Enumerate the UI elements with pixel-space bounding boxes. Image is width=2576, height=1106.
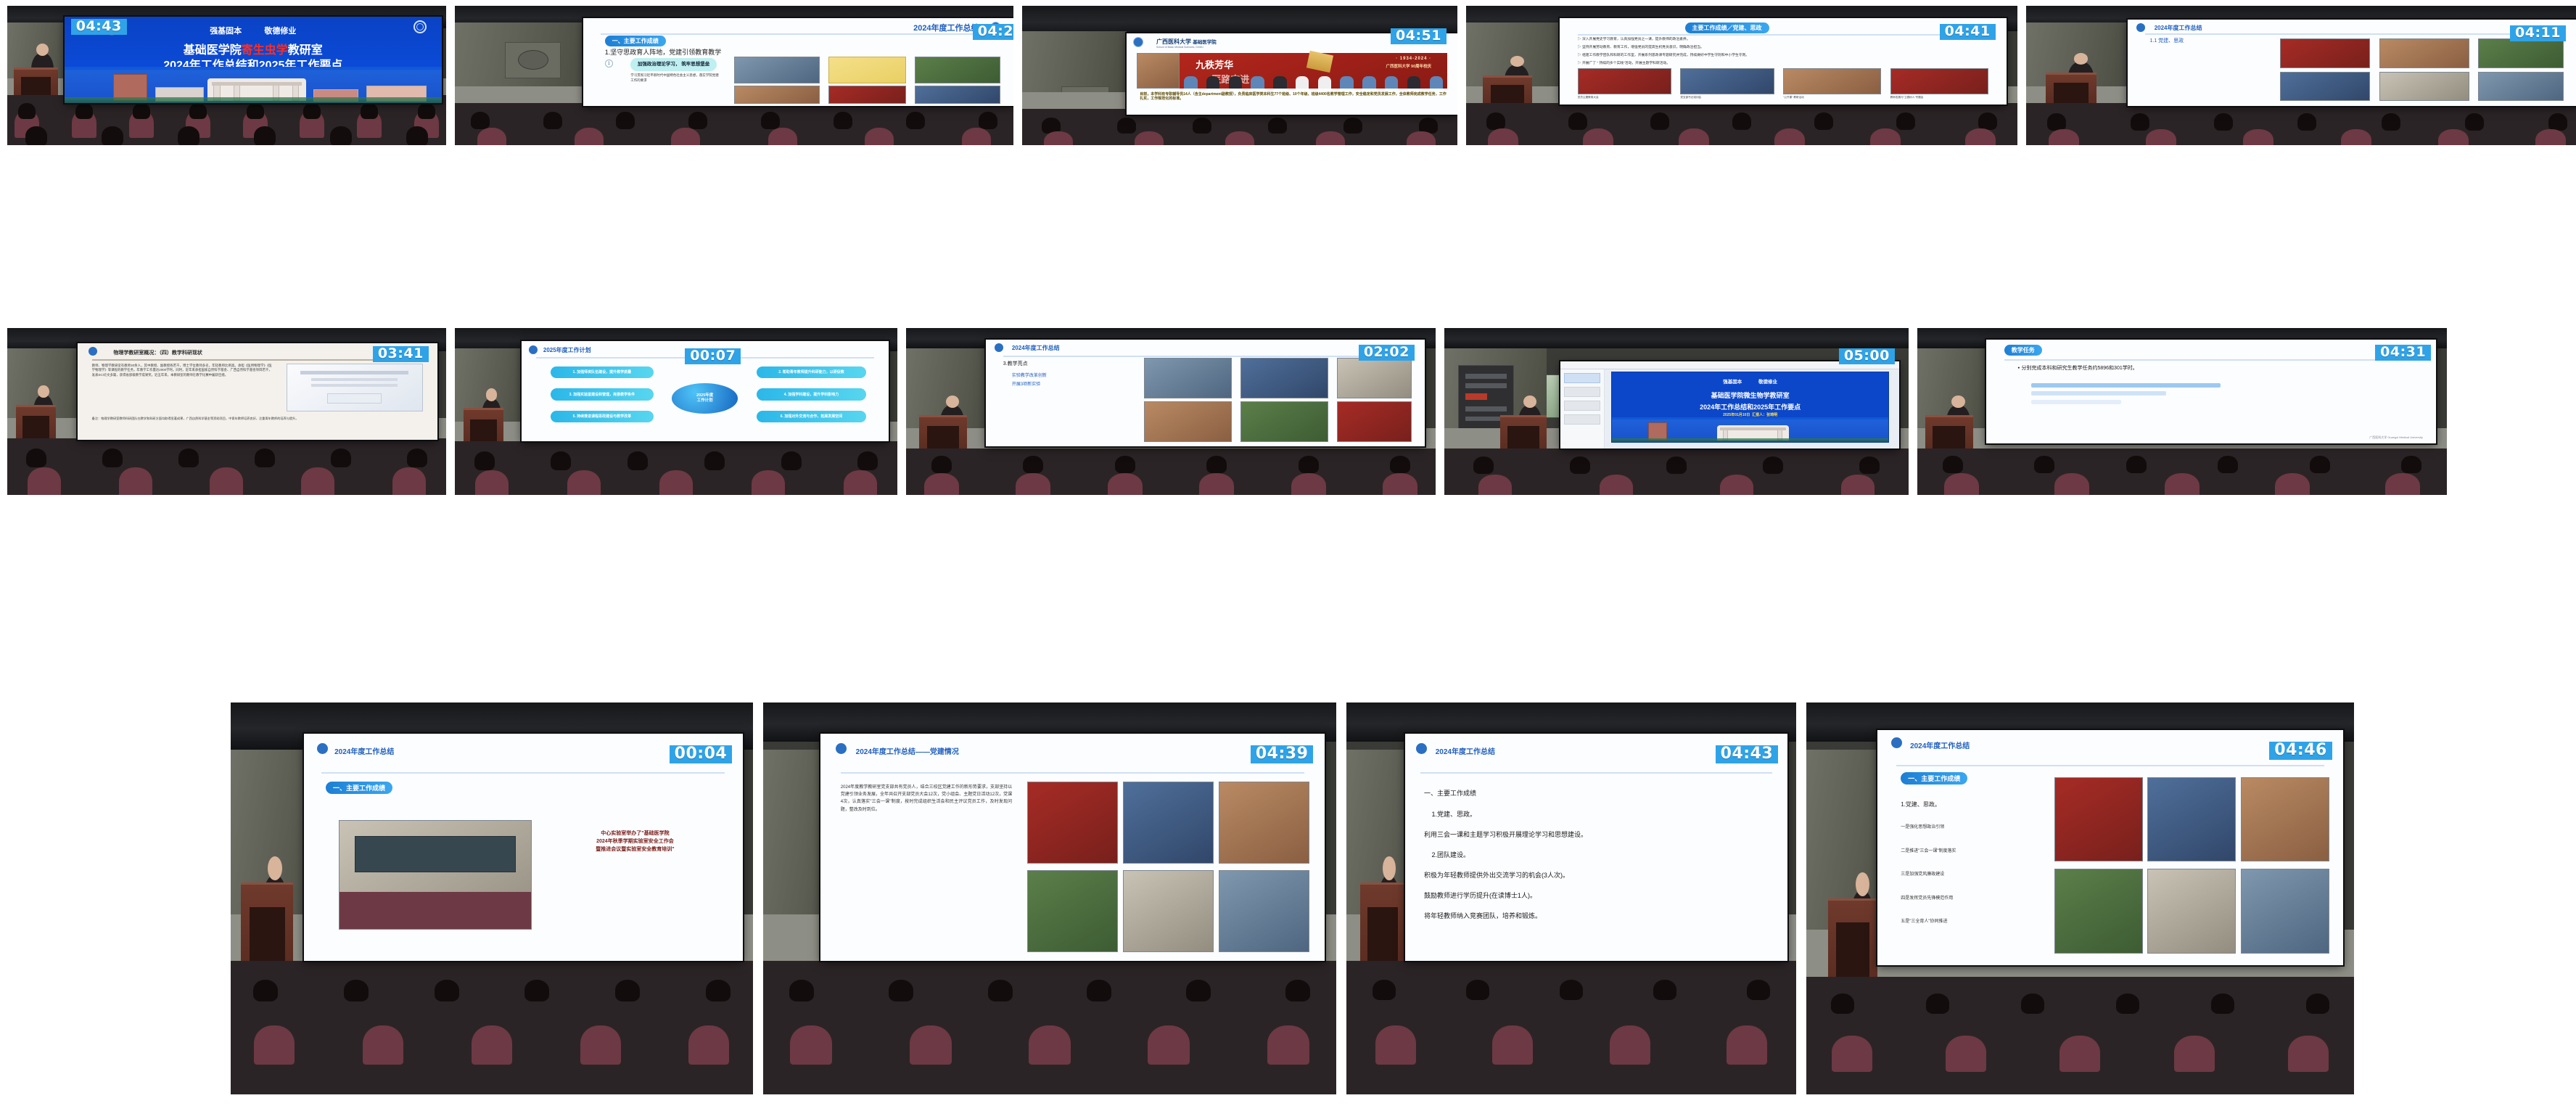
- slide-preview: 强基固本 敬德修业 基础医学院微生物学教研室 2024年工作总结和2025年工作…: [1611, 372, 1889, 443]
- countdown-timer: 00:04: [670, 745, 733, 763]
- slide-header: 物理学教研室概况：（四）教学科研现状: [113, 349, 202, 356]
- countdown-timer: 04:43: [1716, 745, 1779, 763]
- slide-thumbnail: [1578, 68, 1671, 94]
- sub-line-2: 二是推进"三会一课"制度落实: [1901, 848, 2041, 856]
- countdown-timer: 04:39: [1251, 745, 1314, 763]
- certificate-thumbnail: [287, 364, 424, 412]
- progress-bar: [2031, 391, 2166, 396]
- slide-thumbnail: [2241, 869, 2329, 954]
- countdown-timer: 04:43: [71, 19, 127, 35]
- photo-row-1: 强基固本 敬德修业 基础医学院寄生虫学教研室 2024年工作总结和2025年工作…: [0, 6, 2576, 318]
- sub-line-1: 实验教学改革创新: [1012, 372, 1047, 378]
- bullet-3: ▷ 开展广了 " 持续的多个实践"活动，开展主题学科研活动。: [1578, 61, 1988, 66]
- slide-thumbnail: [734, 57, 820, 83]
- slide-footer: 广西医科大学 Guangxi Medical University: [2369, 435, 2423, 440]
- photo-tile-6[interactable]: 物理学教研室概况：（四）教学科研现状 教师、物理学教研室有教师30余人，其中教授…: [7, 328, 446, 495]
- slide-thumbnail: [1144, 358, 1232, 398]
- slide-header: 2024年度工作总结: [1012, 344, 1060, 352]
- slide-thumbnail: [2054, 777, 2143, 862]
- photo-tile-12[interactable]: 2024年度工作总结——党建情况 2024年度教学教研室党支部共有党员人，结合三…: [763, 702, 1336, 1094]
- sub-line-5: 五是"三全育人"协同推进: [1901, 918, 2041, 926]
- report-slide: 2024年度工作总结 一、主要工作成绩 1.坚守思政育人阵地，党建引领教育教学 …: [583, 18, 1013, 106]
- section-line: 1.党建、思政。: [1901, 800, 1941, 808]
- slide-thumbnail: [2379, 38, 2469, 67]
- photo-tile-3[interactable]: 广西医科大学 基础医学院 School of Basic Medical Sci…: [1022, 6, 1457, 145]
- sub-line-1: 一是强化思想政治引领: [1901, 824, 2041, 832]
- photo-tile-4[interactable]: 主要工作成绩／党建、思政 ▷ 深入开展党史学习教育，认真加强党员之一课，提升教师…: [1466, 6, 2017, 145]
- sub-line-4: 四是发挥党员先锋模范作用: [1901, 895, 2041, 903]
- slide-thumbnail: [1027, 782, 1118, 864]
- projection-screen: 2024年度工作总结 一、主要工作成绩 1.党建、思政。 一是强化思想政治引领 …: [1877, 730, 2343, 965]
- slide-thumbnail: [915, 57, 1001, 83]
- slide-thumbnail: [1123, 782, 1214, 864]
- countdown-timer: 04:46: [2269, 742, 2332, 760]
- bullet-0: ▷ 深入开展党史学习教育，认真加强党员之一课，提升教师的政治素养。: [1578, 37, 1988, 42]
- projection-screen: 2024年度工作总结——党建情况 2024年度教学教研室党支部共有党员人，结合三…: [820, 734, 1325, 961]
- thumbnail-caption: "公开课" 教研活动: [1783, 96, 1804, 99]
- slide-thumbnail: [2478, 38, 2564, 67]
- mindmap-node-6: 6. 加强对外交流与合作，拓展发展空间: [757, 411, 867, 423]
- slide-thumbnail: [2147, 869, 2236, 954]
- school-logo-icon: [1416, 743, 1427, 754]
- slide-photo: [339, 820, 532, 929]
- text-line-2: 1.党建、思政。: [1431, 809, 1476, 819]
- bullet-1: ▷ 坚持开展劳动教育、教育工作，增强党员的提高生机党员意识，明确政治担当。: [1578, 45, 1988, 50]
- slide-thumbnail: [915, 86, 1001, 103]
- projection-screen: 2024年度工作总结 一、主要工作成绩 1.坚守思政育人阵地，党建引领教育教学 …: [583, 18, 1013, 106]
- slide-caption: 目前，本学科有专职辅导员14人（含主department副教授），负责临床医学类…: [1140, 92, 1447, 102]
- text-line-3: 利用三会一课和主题学习积极开展理论学习和思想建设。: [1424, 829, 1587, 839]
- text-line-6: 鼓励教师进行学历提升(在读博士1人)。: [1424, 890, 1536, 900]
- school-logo-icon: [995, 343, 1003, 352]
- section-chip: 主要工作成绩／党建、思政: [1685, 22, 1769, 33]
- photo-tile-9[interactable]: 强基固本 敬德修业 基础医学院微生物学教研室 2024年工作总结和2025年工作…: [1444, 328, 1909, 495]
- slide-body: 2024年度教学教研室党支部共有党员人，结合三校区党建工作的新形势要求，支部坚持…: [841, 784, 1012, 814]
- slide-thumbnail: [1027, 870, 1118, 952]
- school-logo-icon: [1133, 37, 1143, 47]
- mindmap-node-1: 1. 加强师资队伍建设，提升教学质量: [551, 366, 654, 379]
- slide-thumbnail: [1337, 401, 1412, 442]
- slide-thumbnail: [1219, 782, 1309, 864]
- slide-thumbnail: [2147, 777, 2236, 862]
- slide-thumbnail: [2379, 72, 2469, 101]
- school-logo-icon: [529, 345, 538, 354]
- ribbon-decor: [1306, 51, 1333, 73]
- motto-left: 强基固本: [210, 25, 242, 36]
- slide-thumbnail: [2054, 869, 2143, 954]
- text-line-1: 一、主要工作成绩: [1424, 788, 1476, 798]
- mindmap-center: 2025年度 工作计划: [672, 383, 738, 413]
- section-line: 1.坚守思政育人阵地，党建引领教育教学: [605, 47, 722, 57]
- task-bullet: 分别完成本科和研究生教学任务约5896和301学时。: [2017, 364, 2137, 372]
- slide-footer-note: 备注：物理学教研室教师科研团队在教学和科研方面均取得显著成果，广西自然科学基金等…: [92, 417, 423, 421]
- countdown-timer: 04:11: [2510, 25, 2566, 41]
- slide-thumbnail: [1890, 68, 1988, 94]
- countdown-timer: 04:51: [1391, 28, 1447, 44]
- motto-right: 敬德修业: [1758, 377, 1777, 385]
- school-logo-icon: [1891, 737, 1902, 748]
- banner-line1: 九秩芳华: [1196, 57, 1233, 71]
- section-chip: 一、主要工作成绩: [1901, 772, 1967, 785]
- countdown-timer: 04:41: [1940, 24, 1996, 40]
- countdown-timer: 02:02: [1359, 345, 1415, 361]
- photo-tile-7[interactable]: 2025年度工作计划 2025年度 工作计划 1. 加强师资队伍建设，提升教学质…: [455, 328, 897, 495]
- thumbnail-caption: 党支部书记培训会: [1680, 96, 1701, 99]
- countdown-timer: 03:41: [373, 346, 429, 362]
- slide-thumbnail: [2280, 38, 2370, 67]
- slide-thumbnail: [1783, 68, 1881, 94]
- slide-thumbnail: [2280, 72, 2370, 101]
- section-chip: 教学任务: [2004, 345, 2042, 356]
- mindmap-node-2: 2. 帮助青年教师提升科研能力，以研促教: [757, 366, 867, 379]
- projection-screen: 2024年度工作总结 一、主要工作成绩 1.党建、思政。 利用三会一课和主题学习…: [1405, 734, 1787, 961]
- photo-row-3: 2024年度工作总结 一、主要工作成绩 中心实验室举办了"基础医学院 2024年…: [0, 702, 2576, 1098]
- slide-caption: 中心实验室举办了"基础医学院 2024年秋季学期实验室安全工作会 暨推进会议暨实…: [545, 829, 725, 854]
- mindmap-node-3: 3. 加强实验室建设和管理，完善教学条件: [551, 388, 654, 401]
- projection-screen: 强基固本 敬德修业 基础医学院微生物学教研室 2024年工作总结和2025年工作…: [1560, 361, 1899, 448]
- mindmap-node-5: 5. 持续推进课程思政建设与教学改革: [551, 411, 654, 423]
- photo-tile-8[interactable]: 2024年度工作总结 3.教学亮点 实验教学改革创新 开展3项新实验 02:02: [906, 328, 1436, 495]
- slide-thumbnail: [1240, 401, 1328, 442]
- campus-illustration: [65, 67, 442, 103]
- contact-sheet: 强基固本 敬德修业 基础医学院寄生虫学教研室 2024年工作总结和2025年工作…: [0, 0, 2576, 1106]
- sub-line-3: 三是加强党风廉政建设: [1901, 871, 2041, 879]
- projection-screen: 教学任务 分别完成本科和研究生教学任务约5896和301学时。 广西医科大学 G…: [1986, 340, 2437, 443]
- text-line-4: 2.团队建设。: [1431, 850, 1470, 859]
- countdown-timer: 04:2: [973, 24, 1013, 40]
- section-line: 3.教学亮点: [1003, 360, 1028, 367]
- text-line-5: 积极为年轻教师提供外出交流学习的机会(3人次)。: [1424, 870, 1569, 880]
- sub-line-2: 开展3项新实验: [1012, 380, 1040, 387]
- projection-screen: 2024年度工作总结 一、主要工作成绩 中心实验室举办了"基础医学院 2024年…: [304, 734, 743, 961]
- slide-header: 2024年度工作总结: [334, 745, 394, 756]
- slide-thumbnail: [1240, 358, 1328, 398]
- banner-years: · 1934-2024 ·: [1396, 57, 1431, 61]
- slide-header: 2024年度工作总结: [913, 22, 979, 33]
- slide-body: [2145, 47, 2271, 52]
- photo-tile-11[interactable]: 2024年度工作总结 一、主要工作成绩 中心实验室举办了"基础医学院 2024年…: [231, 702, 753, 1094]
- countdown-timer: 05:00: [1839, 348, 1895, 364]
- text-line-7: 将年轻教师纳入竞赛团队，培养和锻炼。: [1424, 911, 1542, 920]
- item-pill: 加强政治理论学习， 筑牢思想堡垒: [630, 58, 717, 71]
- slide-header: 2024年度工作总结: [2155, 24, 2202, 32]
- school-logo-icon: [89, 347, 97, 356]
- slide-header: 2024年度工作总结——党建情况: [856, 745, 959, 756]
- slide-photo: [1137, 53, 1180, 89]
- university-name: 广西医科大学 基础医学院 School of Basic Medical Sci…: [1156, 38, 1217, 49]
- slide-title-line1: 基础医学院微生物学教研室: [1621, 390, 1880, 400]
- school-logo-icon: [317, 743, 328, 754]
- slide-thumbnail: [1123, 870, 1214, 952]
- photo-tile-2[interactable]: 2024年度工作总结 一、主要工作成绩 1.坚守思政育人阵地，党建引领教育教学 …: [455, 6, 1013, 145]
- slide-thumbnail-certificate: [828, 57, 906, 83]
- slide-thumbnail: [1337, 358, 1412, 398]
- progress-bar: [2031, 383, 2221, 388]
- bullet-2: ▷ 组建工作教学团队和科研的工作室，开展系列思政课专题研究并完成，持续做好中学生…: [1578, 53, 1988, 58]
- section-line: 1.1 党建、思政: [2150, 37, 2184, 44]
- countdown-timer: 04:31: [2375, 345, 2431, 361]
- projection-screen: 2024年度工作总结 1.1 党建、思政: [2128, 20, 2576, 106]
- slide-thumbnail: [828, 86, 906, 103]
- projection-screen: 广西医科大学 基础医学院 School of Basic Medical Sci…: [1127, 33, 1457, 114]
- wall-fixture: [505, 42, 561, 78]
- motto-left: 强基固本: [1723, 377, 1742, 385]
- photo-tile-5[interactable]: 2024年度工作总结 1.1 党建、思政 04:11: [2026, 6, 2576, 145]
- slide-thumbnail: [1144, 401, 1232, 442]
- countdown-timer: 00:07: [685, 348, 741, 364]
- slide-title-line2: 2024年工作总结和2025年工作要点: [1621, 402, 1880, 411]
- section-chip: 一、主要工作成绩: [326, 782, 392, 794]
- section-chip: 一、主要工作成绩: [605, 36, 666, 46]
- motto-right: 敬德修业: [264, 25, 296, 36]
- slide-thumbnail: [734, 86, 820, 103]
- slide-header: 2024年度工作总结: [1910, 740, 1970, 750]
- slide-header: 2024年度工作总结: [1436, 745, 1495, 756]
- slide-thumbnail: [1219, 870, 1309, 952]
- school-logo-icon: [2136, 23, 2145, 32]
- photo-tile-14[interactable]: 2024年度工作总结 一、主要工作成绩 1.党建、思政。 一是强化思想政治引领 …: [1806, 702, 2354, 1094]
- school-logo-icon: [836, 743, 847, 754]
- mindmap-node-4: 4. 加强学科建设，提升学科影响力: [757, 388, 867, 401]
- slide-thumbnail: [1680, 68, 1774, 94]
- photo-tile-13[interactable]: 2024年度工作总结 一、主要工作成绩 1.党建、思政。 利用三会一课和主题学习…: [1346, 702, 1796, 1094]
- item-number: 1: [605, 60, 613, 67]
- banner-subtitle: 广西医科大学 90周年校庆: [1386, 63, 1432, 69]
- slide-body: 教师、物理学教研室有教师30余人，其中教授、副教授各若干，博士学位教师多名，年轻…: [92, 364, 272, 378]
- item-body: 学习贯彻习近平新时代中国特色社会主义思想，落实学院党建工作的要求: [630, 73, 721, 83]
- slide-header: 2025年度工作计划: [543, 346, 591, 354]
- thumbnail-caption: 教师发展与"立德树人"专题会: [1890, 96, 1924, 99]
- thumbnail-caption: 党员主题教育大会: [1578, 96, 1599, 99]
- slide-thumbnail: [2241, 777, 2329, 862]
- slide-thumbnail: [2478, 72, 2564, 101]
- progress-bar: [2031, 400, 2121, 404]
- desktop-background: 强基固本 敬德修业 基础医学院微生物学教研室 2024年工作总结和2025年工作…: [1560, 361, 1899, 448]
- photo-tile-10[interactable]: 教学任务 分别完成本科和研究生教学任务约5896和301学时。 广西医科大学 G…: [1917, 328, 2447, 495]
- slide-panel[interactable]: [1560, 369, 1605, 448]
- anniversary-banner: 九秩芳华 医路奋进 · 1934-2024 · 广西医科大学 90周年校庆: [1180, 53, 1447, 89]
- photo-tile-1[interactable]: 强基固本 敬德修业 基础医学院寄生虫学教研室 2024年工作总结和2025年工作…: [7, 6, 446, 145]
- photo-row-2: 物理学教研室概况：（四）教学科研现状 教师、物理学教研室有教师30余人，其中教授…: [0, 328, 2576, 647]
